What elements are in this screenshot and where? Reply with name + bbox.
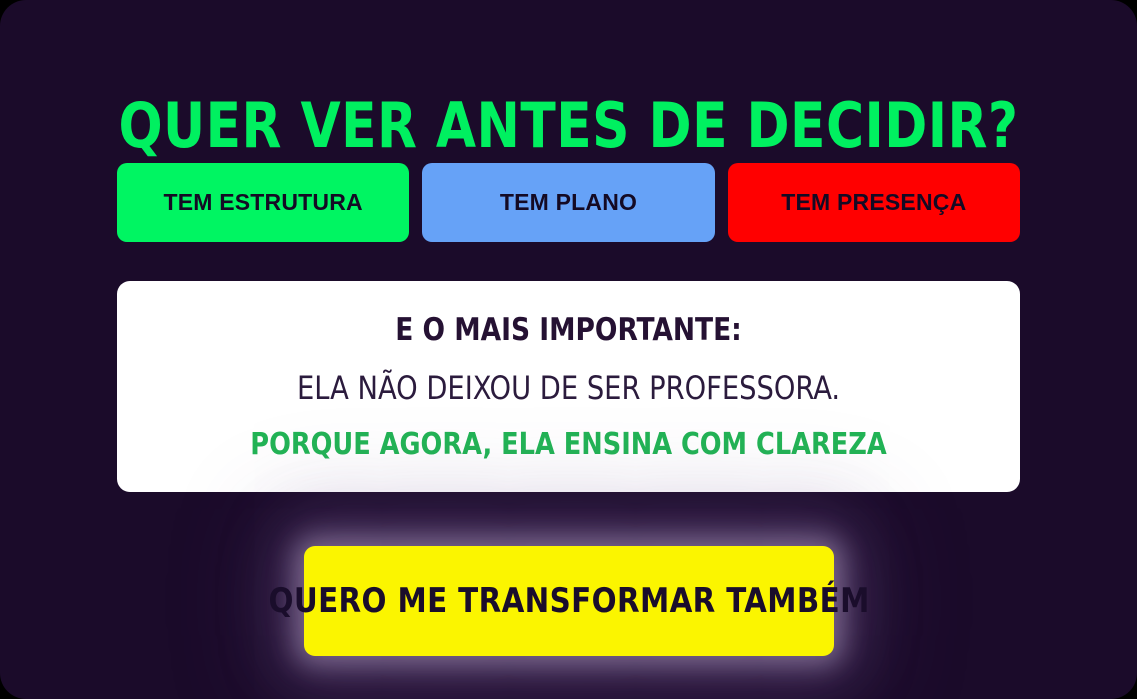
badge-tem-presenca: TEM PRESENÇA: [728, 163, 1020, 242]
card-highlight: PORQUE AGORA, ELA ENSINA COM CLAREZA: [140, 429, 998, 461]
cta-button-label: QUERO ME TRANSFORMAR TAMBÉM: [268, 581, 869, 621]
cta-container: QUERO ME TRANSFORMAR TAMBÉM: [304, 546, 834, 656]
badge-tem-estrutura: TEM ESTRUTURA: [117, 163, 409, 242]
card-heading: E O MAIS IMPORTANTE:: [140, 313, 998, 347]
badge-tem-plano: TEM PLANO: [422, 163, 714, 242]
page-title: QUER VER ANTES DE DECIDIR?: [40, 94, 1097, 158]
badge-label: TEM PLANO: [500, 189, 637, 216]
highlight-card: E O MAIS IMPORTANTE: ELA NÃO DEIXOU DE S…: [117, 281, 1020, 492]
feature-badge-row: TEM ESTRUTURA TEM PLANO TEM PRESENÇA: [117, 163, 1020, 242]
card-statement: ELA NÃO DEIXOU DE SER PROFESSORA.: [140, 371, 998, 405]
cta-button[interactable]: QUERO ME TRANSFORMAR TAMBÉM: [304, 546, 834, 656]
badge-label: TEM PRESENÇA: [781, 189, 966, 216]
badge-label: TEM ESTRUTURA: [163, 189, 362, 216]
promo-page: QUER VER ANTES DE DECIDIR? TEM ESTRUTURA…: [0, 0, 1137, 699]
